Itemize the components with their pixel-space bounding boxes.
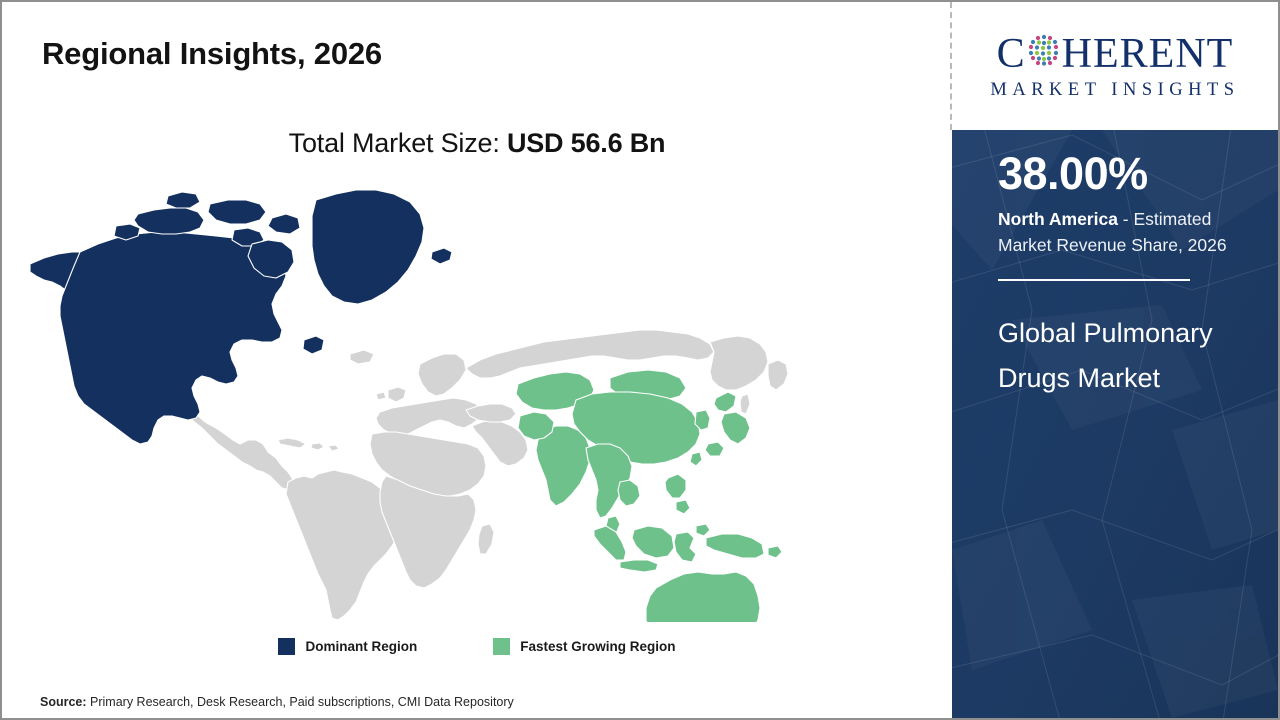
legend-swatch-dominant [278,638,295,655]
source-label: Source: [40,695,87,709]
map-legend: Dominant Region Fastest Growing Region [2,638,952,655]
infographic-root: Regional Insights, 2026 Total Market Siz… [0,0,1280,720]
total-market-size-label: Total Market Size: [289,128,507,158]
market-title: Global Pulmonary Drugs Market [998,311,1268,402]
logo-letters-herent: HERENT [1062,33,1234,75]
logo-subtitle: MARKET INSIGHTS [990,81,1239,100]
page-title: Regional Insights, 2026 [42,36,382,72]
world-map-svg [20,182,850,622]
logo-wordmark: C [997,33,1234,75]
share-region-name: North America [998,209,1118,229]
map-region-asia-pacific [516,370,810,622]
map-region-north-america [30,190,452,444]
legend-item-fastest-growing: Fastest Growing Region [493,638,675,655]
source-text: Primary Research, Desk Research, Paid su… [87,695,514,709]
right-column: C [952,2,1278,718]
legend-label-fastest-growing: Fastest Growing Region [520,639,675,654]
stat-panel-content: 38.00% North America - Estimated Market … [998,150,1268,402]
globe-dots-icon [1027,33,1061,75]
panel-divider-rule [998,279,1190,281]
share-percentage: 38.00% [998,150,1268,199]
world-map [20,182,850,622]
total-market-size-value: USD 56.6 Bn [507,128,665,158]
brand-logo: C [952,2,1278,130]
left-content-column: Regional Insights, 2026 Total Market Siz… [2,2,952,718]
logo-letter-c: C [997,33,1026,75]
legend-label-dominant: Dominant Region [305,639,417,654]
vertical-dashed-divider [950,2,952,130]
source-note: Source: Primary Research, Desk Research,… [40,695,514,709]
share-description: North America - Estimated Market Revenue… [998,206,1268,259]
total-market-size: Total Market Size: USD 56.6 Bn [2,128,952,159]
stat-panel: 38.00% North America - Estimated Market … [952,130,1278,718]
legend-item-dominant: Dominant Region [278,638,417,655]
legend-swatch-fastest-growing [493,638,510,655]
